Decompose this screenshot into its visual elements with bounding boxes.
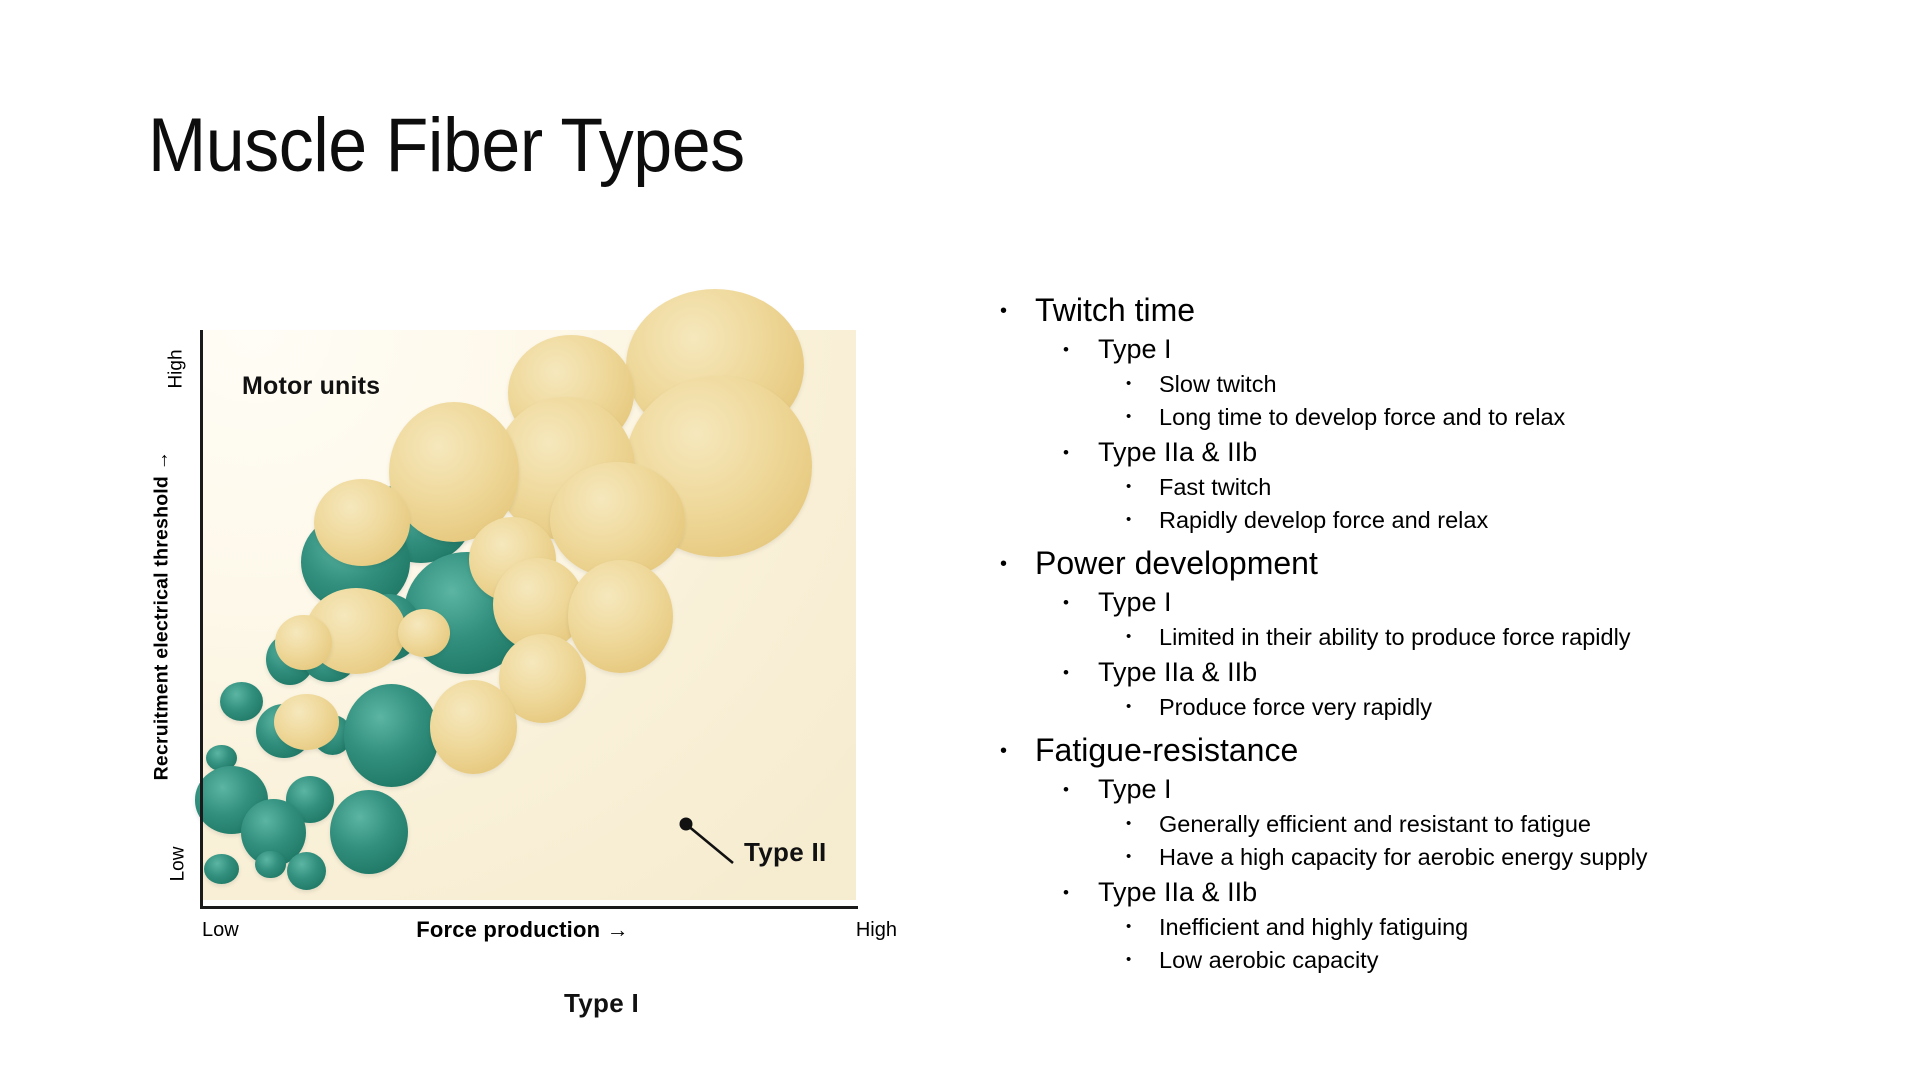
bubble-type-ii <box>398 609 450 657</box>
section-detail: •Inefficient and highly fatiguing <box>1126 911 1790 943</box>
section-subheading: •Type IIa & IIb <box>1063 655 1790 690</box>
section-subheading: •Type IIa & IIb <box>1063 435 1790 470</box>
bullet-dot-icon: • <box>1063 585 1098 611</box>
bubble-type-i <box>220 682 264 722</box>
bullet-dot-icon: • <box>1126 621 1159 644</box>
section-detail: •Produce force very rapidly <box>1126 691 1790 723</box>
section-detail-text: Generally efficient and resistant to fat… <box>1159 808 1591 840</box>
section-detail: •Generally efficient and resistant to fa… <box>1126 808 1790 840</box>
bullet-dot-icon: • <box>1126 368 1159 391</box>
bullet-dot-icon: • <box>1126 504 1159 527</box>
callout-label-type-i: Type I <box>564 988 639 1019</box>
section-subheading-text: Type IIa & IIb <box>1098 435 1257 470</box>
bullet-dot-icon: • <box>1063 875 1098 901</box>
bullet-dot-icon: • <box>1000 730 1035 761</box>
bubble-type-ii <box>274 694 339 750</box>
y-axis-line <box>200 330 203 908</box>
bubble-type-ii <box>430 680 517 774</box>
section-detail-text: Limited in their ability to produce forc… <box>1159 621 1631 653</box>
callout-label-type-ii: Type II <box>744 837 827 868</box>
bullet-dot-icon: • <box>1000 543 1035 574</box>
chart-inner-title: Motor units <box>242 372 380 401</box>
content-section: •Twitch time•Type I•Slow twitch•Long tim… <box>1000 290 1790 536</box>
bubble-type-i <box>330 790 408 875</box>
x-axis-tick-high: High <box>856 919 897 942</box>
y-axis-title: Recruitment electrical threshold → <box>146 330 178 900</box>
section-heading-text: Power development <box>1035 543 1318 583</box>
bullet-dot-icon: • <box>1063 655 1098 681</box>
section-detail-text: Rapidly develop force and relax <box>1159 504 1488 536</box>
section-detail-text: Long time to develop force and to relax <box>1159 401 1565 433</box>
section-subheading-text: Type I <box>1098 332 1172 367</box>
section-detail: •Fast twitch <box>1126 471 1790 503</box>
y-axis-tick-high-text: High <box>166 349 188 388</box>
x-axis-title: Force production → <box>150 917 895 943</box>
section-detail: •Rapidly develop force and relax <box>1126 504 1790 536</box>
section-detail-text: Inefficient and highly fatiguing <box>1159 911 1468 943</box>
page-title: Muscle Fiber Types <box>148 108 745 184</box>
bullet-dot-icon: • <box>1063 772 1098 798</box>
section-detail: •Limited in their ability to produce for… <box>1126 621 1790 653</box>
bubble-type-i <box>287 852 326 890</box>
bubble-type-ii <box>568 560 672 673</box>
section-detail-text: Fast twitch <box>1159 471 1271 503</box>
section-detail: •Have a high capacity for aerobic energy… <box>1126 841 1790 873</box>
section-heading-text: Twitch time <box>1035 290 1195 330</box>
section-subheading-text: Type IIa & IIb <box>1098 655 1257 690</box>
motor-units-figure: Motor units Recruitment electrical thres… <box>150 325 895 945</box>
bullet-dot-icon: • <box>1063 435 1098 461</box>
section-subheading: •Type I <box>1063 332 1790 367</box>
section-subheading: •Type I <box>1063 585 1790 620</box>
section-subheading: •Type IIa & IIb <box>1063 875 1790 910</box>
section-detail-text: Have a high capacity for aerobic energy … <box>1159 841 1648 873</box>
bubble-type-i <box>255 851 285 879</box>
y-axis-tick-low: Low <box>174 825 200 905</box>
bullet-dot-icon: • <box>1126 808 1159 831</box>
bullet-dot-icon: • <box>1126 471 1159 494</box>
bubble-type-i <box>204 854 239 884</box>
plot-area: Motor units <box>202 330 856 900</box>
content-section: •Power development•Type I•Limited in the… <box>1000 543 1790 723</box>
section-heading: •Fatigue-resistance <box>1000 730 1790 770</box>
bullet-dot-icon: • <box>1126 841 1159 864</box>
y-axis-tick-high: High <box>174 331 200 411</box>
bullet-dot-icon: • <box>1126 944 1159 967</box>
bullet-dot-icon: • <box>1126 911 1159 934</box>
y-axis-tick-low-text: Low <box>167 847 189 882</box>
section-heading: •Power development <box>1000 543 1790 583</box>
bullet-dot-icon: • <box>1126 401 1159 424</box>
content-section: •Fatigue-resistance•Type I•Generally eff… <box>1000 730 1790 976</box>
section-subheading: •Type I <box>1063 772 1790 807</box>
section-subheading-text: Type IIa & IIb <box>1098 875 1257 910</box>
bullet-dot-icon: • <box>1000 290 1035 321</box>
section-heading-text: Fatigue-resistance <box>1035 730 1298 770</box>
bubble-type-ii <box>314 479 410 567</box>
section-detail: •Low aerobic capacity <box>1126 944 1790 976</box>
section-detail: •Slow twitch <box>1126 368 1790 400</box>
section-detail-text: Slow twitch <box>1159 368 1277 400</box>
section-detail: •Long time to develop force and to relax <box>1126 401 1790 433</box>
bubble-type-ii <box>275 615 332 670</box>
bubble-type-i <box>344 684 440 787</box>
bullet-dot-icon: • <box>1126 691 1159 714</box>
x-axis-line <box>200 906 858 909</box>
y-axis-title-text: Recruitment electrical threshold → <box>151 450 174 780</box>
section-subheading-text: Type I <box>1098 585 1172 620</box>
section-detail-text: Produce force very rapidly <box>1159 691 1432 723</box>
section-detail-text: Low aerobic capacity <box>1159 944 1378 976</box>
bullet-dot-icon: • <box>1063 332 1098 358</box>
section-heading: •Twitch time <box>1000 290 1790 330</box>
section-subheading-text: Type I <box>1098 772 1172 807</box>
content-bullet-list: •Twitch time•Type I•Slow twitch•Long tim… <box>1000 286 1790 983</box>
